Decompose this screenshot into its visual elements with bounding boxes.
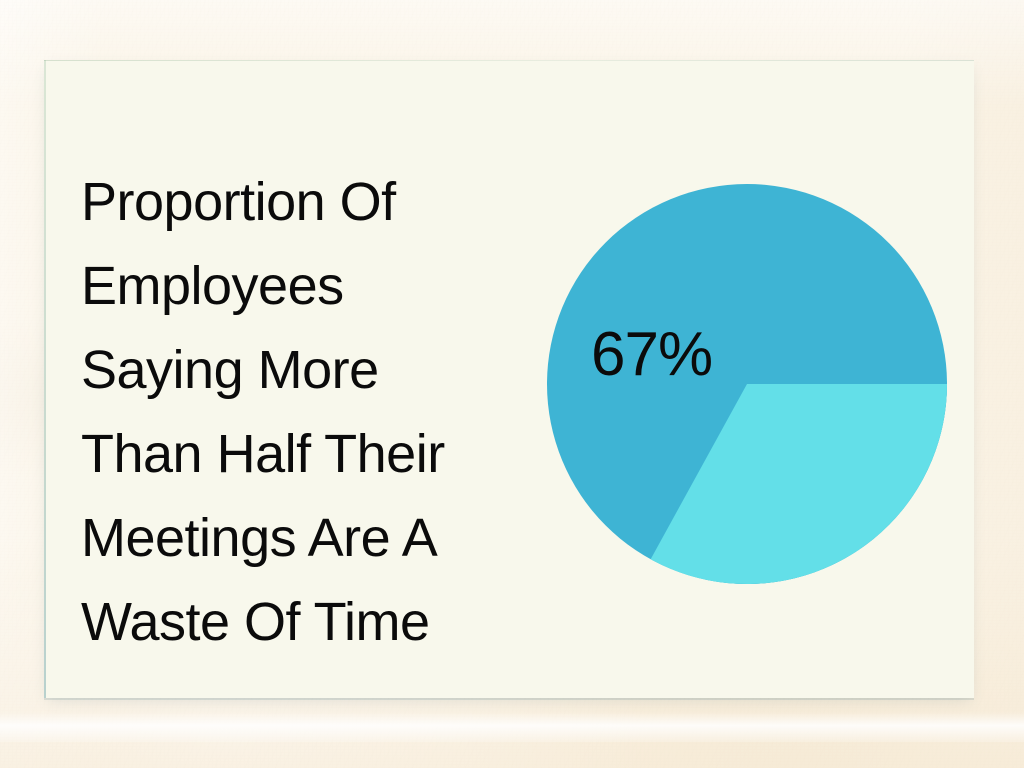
- slide-canvas: Proportion Of Employees Saying More Than…: [0, 0, 1024, 768]
- headline-text: Proportion Of Employees Saying More Than…: [81, 160, 511, 664]
- card-edge-highlight-left: [44, 60, 46, 698]
- paper-fold-highlight: [0, 712, 1024, 742]
- infographic-card: Proportion Of Employees Saying More Than…: [44, 60, 974, 698]
- pie-center-value-label: 67%: [591, 324, 801, 386]
- pie-chart: 67%: [547, 184, 947, 584]
- card-edge-highlight-top: [44, 60, 974, 61]
